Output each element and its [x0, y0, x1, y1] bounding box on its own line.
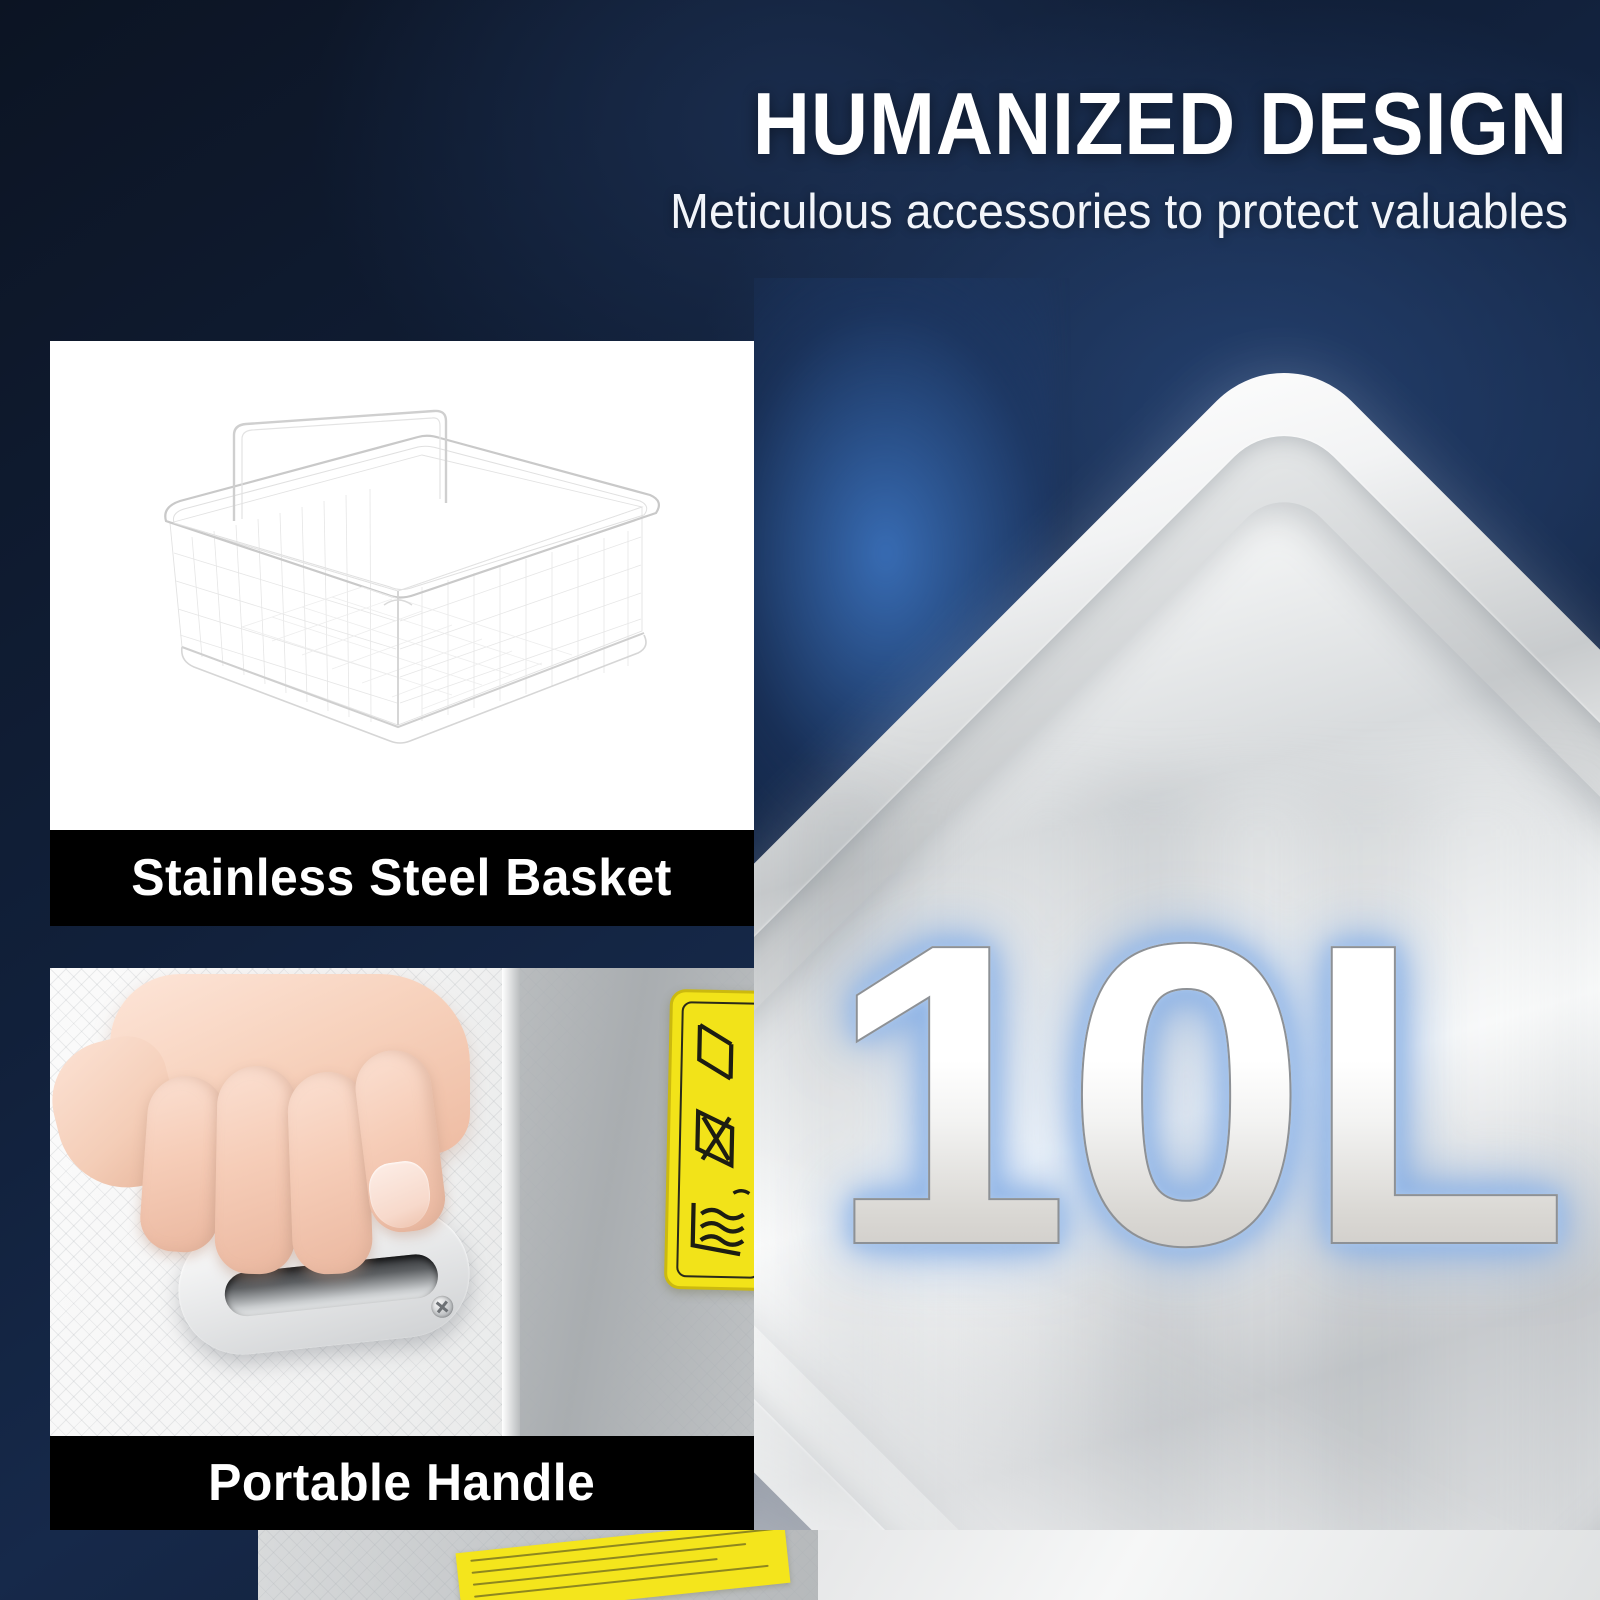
handle-screw: [430, 1295, 454, 1319]
no-solvent-icon: [683, 1098, 754, 1174]
handle-photo: [50, 968, 754, 1436]
no-hand-in-tank-icon: [685, 1014, 754, 1090]
tank-bottom-edge: [818, 1530, 1600, 1600]
handle-caption-text: Portable Handle: [208, 1453, 595, 1513]
handle-caption-bar: Portable Handle: [50, 1436, 754, 1530]
page-subtitle: Meticulous accessories to protect valuab…: [78, 182, 1568, 242]
volume-badge: 10L 10L: [790, 860, 1600, 1330]
volume-badge-text: 10L: [826, 880, 1563, 1310]
page-title: HUMANIZED DESIGN: [157, 78, 1568, 170]
feature-card-handle: Portable Handle: [50, 968, 754, 1530]
basket-wireframe-svg: [122, 395, 682, 795]
basket-caption-text: Stainless Steel Basket: [132, 848, 673, 908]
heat-water-icon: [682, 1184, 754, 1260]
feature-card-basket: Stainless Steel Basket: [50, 341, 754, 926]
product-feature-image: HUMANIZED DESIGN Meticulous accessories …: [0, 0, 1600, 1600]
warning-label: [664, 989, 754, 1291]
header-block: HUMANIZED DESIGN Meticulous accessories …: [0, 78, 1568, 242]
finger-middle: [214, 1065, 298, 1274]
basket-illustration: [50, 341, 754, 830]
label-text-line: [473, 1558, 718, 1586]
human-hand: [50, 968, 510, 1284]
machine-bottom-strip: [258, 1530, 1600, 1600]
basket-caption-bar: Stainless Steel Basket: [50, 830, 754, 926]
